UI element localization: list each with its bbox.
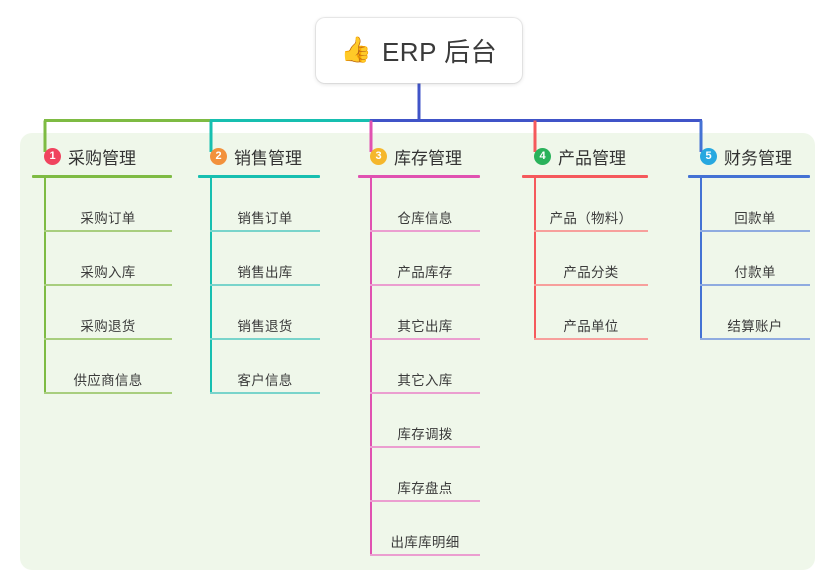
leaf-underline [534, 338, 648, 340]
leaf-label: 仓库信息 [397, 207, 452, 227]
leaf-label: 付款单 [734, 261, 775, 281]
leaf-item[interactable]: 采购退货 [44, 286, 172, 340]
leaf-item[interactable]: 采购入库 [44, 232, 172, 286]
leaf-item[interactable]: 销售退货 [210, 286, 320, 340]
branch-badge-2: 2 [210, 148, 227, 165]
branch-header-1[interactable]: 1采购管理 [32, 143, 172, 169]
leaf-label: 销售出库 [237, 261, 292, 281]
leaf-label: 产品（物料） [550, 207, 633, 227]
leaf-item[interactable]: 其它出库 [370, 286, 480, 340]
leaf-label: 其它入库 [397, 369, 452, 389]
branch-badge-3: 3 [370, 148, 387, 165]
leaf-label: 产品单位 [563, 315, 618, 335]
branch-4: 4产品管理产品（物料）产品分类产品单位 [522, 143, 648, 340]
root-node[interactable]: 👍 ERP 后台 [316, 18, 522, 83]
branch-title-1: 采购管理 [68, 144, 136, 169]
branch-title-5: 财务管理 [724, 144, 792, 169]
leaf-underline [44, 392, 172, 394]
leaf-item[interactable]: 销售出库 [210, 232, 320, 286]
leaf-label: 库存调拨 [397, 423, 452, 443]
leaf-item[interactable]: 其它入库 [370, 340, 480, 394]
leaf-label: 采购退货 [80, 315, 135, 335]
branch-1: 1采购管理采购订单采购入库采购退货供应商信息 [32, 143, 172, 394]
mindmap-canvas: 👍 ERP 后台 1采购管理采购订单采购入库采购退货供应商信息2销售管理销售订单… [0, 0, 839, 588]
branch-header-3[interactable]: 3库存管理 [358, 143, 480, 169]
leaf-label: 采购订单 [80, 207, 135, 227]
leaf-item[interactable]: 销售订单 [210, 178, 320, 232]
branch-title-3: 库存管理 [394, 144, 462, 169]
thumbs-up-emoji: 👍 [341, 38, 372, 63]
leaf-item[interactable]: 产品分类 [534, 232, 648, 286]
leaf-item[interactable]: 出库库明细 [370, 502, 480, 556]
branch-badge-4: 4 [534, 148, 551, 165]
leaf-label: 产品分类 [563, 261, 618, 281]
branch-header-5[interactable]: 5财务管理 [688, 143, 810, 169]
leaf-list-4: 产品（物料）产品分类产品单位 [522, 178, 648, 340]
leaf-item[interactable]: 产品单位 [534, 286, 648, 340]
leaf-item[interactable]: 付款单 [700, 232, 810, 286]
leaf-list-1: 采购订单采购入库采购退货供应商信息 [32, 178, 172, 394]
leaf-item[interactable]: 产品库存 [370, 232, 480, 286]
leaf-item[interactable]: 库存盘点 [370, 448, 480, 502]
leaf-list-5: 回款单付款单结算账户 [688, 178, 810, 340]
leaf-item[interactable]: 结算账户 [700, 286, 810, 340]
leaf-label: 客户信息 [237, 369, 292, 389]
leaf-list-2: 销售订单销售出库销售退货客户信息 [198, 178, 320, 394]
leaf-label: 采购入库 [80, 261, 135, 281]
leaf-label: 供应商信息 [74, 369, 143, 389]
leaf-label: 产品库存 [397, 261, 452, 281]
leaf-label: 结算账户 [727, 315, 782, 335]
leaf-label: 销售订单 [237, 207, 292, 227]
leaf-item[interactable]: 回款单 [700, 178, 810, 232]
branch-badge-5: 5 [700, 148, 717, 165]
leaf-label: 销售退货 [237, 315, 292, 335]
leaf-list-3: 仓库信息产品库存其它出库其它入库库存调拨库存盘点出库库明细 [358, 178, 480, 556]
branch-5: 5财务管理回款单付款单结算账户 [688, 143, 810, 340]
branch-header-2[interactable]: 2销售管理 [198, 143, 320, 169]
leaf-underline [210, 392, 320, 394]
branch-title-2: 销售管理 [234, 144, 302, 169]
leaf-item[interactable]: 仓库信息 [370, 178, 480, 232]
branch-2: 2销售管理销售订单销售出库销售退货客户信息 [198, 143, 320, 394]
leaf-label: 库存盘点 [397, 477, 452, 497]
leaf-item[interactable]: 供应商信息 [44, 340, 172, 394]
leaf-item[interactable]: 库存调拨 [370, 394, 480, 448]
leaf-underline [700, 338, 810, 340]
leaf-item[interactable]: 采购订单 [44, 178, 172, 232]
leaf-underline [370, 554, 480, 556]
branch-header-4[interactable]: 4产品管理 [522, 143, 648, 169]
branch-title-4: 产品管理 [558, 144, 626, 169]
leaf-label: 回款单 [734, 207, 775, 227]
root-title: ERP 后台 [382, 32, 497, 69]
leaf-item[interactable]: 客户信息 [210, 340, 320, 394]
leaf-label: 其它出库 [397, 315, 452, 335]
branch-3: 3库存管理仓库信息产品库存其它出库其它入库库存调拨库存盘点出库库明细 [358, 143, 480, 556]
branch-badge-1: 1 [44, 148, 61, 165]
leaf-item[interactable]: 产品（物料） [534, 178, 648, 232]
leaf-label: 出库库明细 [391, 531, 460, 551]
